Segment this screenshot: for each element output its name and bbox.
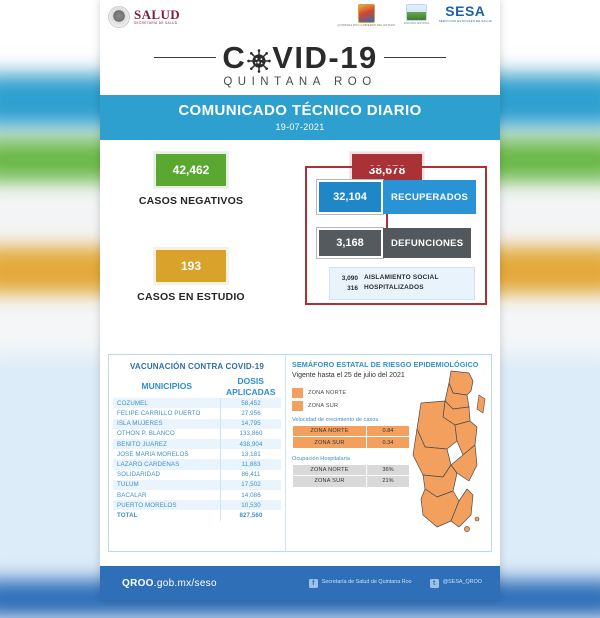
occupancy-value-sur: 21%	[367, 476, 410, 487]
recovered-row: 32,104 RECUPERADOS	[317, 180, 485, 214]
positive-breakdown-box: 32,104 RECUPERADOS 3,168 DEFUNCIONES 3,0…	[305, 166, 487, 305]
growth-zone-sur: ZONA SUR	[293, 437, 367, 448]
municipio-cell: BENITO JUAREZ	[113, 439, 221, 449]
footer-social: f Secretaría de Salud de Quintana Roo t …	[309, 579, 482, 588]
table-row: LAZARO CARDENAS11,883	[113, 459, 281, 469]
growth-table-block: Velocidad de crecimiento de casos ZONA N…	[292, 417, 410, 449]
poster-footer: QROO.gob.mx/seso f Secretaría de Salud d…	[100, 566, 500, 600]
sesa-logo-subtitle: SERVICIOS ESTATALES DE SALUD	[439, 19, 492, 23]
dosis-cell: 86,411	[221, 470, 282, 480]
municipio-cell: BACALAR	[113, 490, 221, 500]
dosis-cell: 11,883	[221, 459, 282, 469]
municipio-cell: FELIPE CARRILLO PUERTO	[113, 408, 221, 418]
isolation-row: 3,090 AISLAMIENTO SOCIAL	[338, 274, 466, 283]
footer-website-bold: QROO	[122, 578, 154, 589]
negative-cases-label: CASOS NEGATIVOS	[126, 195, 256, 207]
growth-row-norte: ZONA NORTE 0.84	[293, 426, 410, 437]
sesa-logo-title: SESA	[445, 4, 485, 18]
edu-logo: ESCUDO ESTATAL	[404, 4, 430, 25]
hospitalized-value: 316	[338, 284, 358, 292]
banner-date: 19-07-2021	[100, 122, 500, 132]
deaths-value: 3,168	[317, 228, 383, 258]
footer-website[interactable]: QROO.gob.mx/seso	[122, 578, 217, 589]
occupancy-row-sur: ZONA SUR 21%	[293, 476, 410, 487]
twitter-label: @SESA_QROO	[443, 579, 482, 586]
table-row: OTHON P. BLANCO133,860	[113, 429, 281, 439]
municipio-cell: COZUMEL	[113, 398, 221, 408]
table-row: ISLA MUJERES14,795	[113, 419, 281, 429]
table-row: JOSE MARIA MORELOS13,181	[113, 449, 281, 459]
quintana-roo-map	[407, 369, 489, 537]
isolation-label: AISLAMIENTO SOCIAL	[364, 274, 439, 283]
dosis-cell: 13,181	[221, 449, 282, 459]
dosis-cell: 10,530	[221, 500, 282, 510]
partner-logos: QUINTANA ROO GOBIERNO DEL ESTADO ESCUDO …	[337, 4, 492, 27]
occupancy-zone-sur: ZONA SUR	[293, 476, 367, 487]
occupancy-value-norte: 36%	[367, 464, 410, 475]
table-row: COZUMEL58,452	[113, 398, 281, 408]
covid-subtitle: QUINTANA ROO	[100, 76, 500, 88]
footer-website-rest: .gob.mx/seso	[154, 578, 217, 589]
deaths-row: 3,168 DEFUNCIONES	[317, 228, 485, 258]
legend-swatch-sur	[292, 401, 303, 411]
vaccination-col-dosis: DOSIS APLICADAS	[221, 375, 282, 398]
hospitalized-label: HOSPITALIZADOS	[364, 284, 424, 293]
municipio-cell: TULUM	[113, 480, 221, 490]
tree-book-icon	[406, 4, 427, 21]
vaccination-panel: VACUNACIÓN CONTRA COVID-19 MUNICIPIOS DO…	[109, 355, 286, 551]
deaths-label: DEFUNCIONES	[383, 228, 471, 258]
municipio-cell: JOSE MARIA MORELOS	[113, 449, 221, 459]
vaccination-table: MUNICIPIOS DOSIS APLICADAS COZUMEL58,452…	[113, 375, 281, 521]
covid-title-prefix: C	[222, 42, 246, 73]
dosis-cell: 14,795	[221, 419, 282, 429]
virus-icon	[247, 47, 271, 71]
dosis-cell: 58,452	[221, 398, 282, 408]
municipio-cell: LAZARO CARDENAS	[113, 459, 221, 469]
cases-under-study-stat: 193 CASOS EN ESTUDIO	[126, 248, 256, 303]
recovered-label: RECUPERADOS	[383, 180, 476, 214]
growth-zone-norte: ZONA NORTE	[293, 426, 367, 437]
statistics-section: 42,462 CASOS NEGATIVOS 38,678 CASOS POSI…	[100, 140, 500, 350]
occupancy-caption: Ocupación Hospitalaria	[292, 456, 410, 462]
qroo-state-logo: QUINTANA ROO GOBIERNO DEL ESTADO	[337, 4, 395, 27]
bottom-panel: VACUNACIÓN CONTRA COVID-19 MUNICIPIOS DO…	[108, 354, 492, 552]
table-row: TULUM17,502	[113, 480, 281, 490]
title-rule-right	[384, 57, 446, 59]
municipio-cell: SOLIDARIDAD	[113, 470, 221, 480]
vaccination-title: VACUNACIÓN CONTRA COVID-19	[113, 360, 281, 375]
salud-logo-subtitle: SECRETARÍA DE SALUD	[134, 22, 180, 25]
facebook-label: Secretaría de Salud de Quintana Roo	[322, 579, 412, 586]
covid-title-block: C	[100, 40, 500, 88]
sesa-logo: SESA SERVICIOS ESTATALES DE SALUD	[439, 4, 492, 23]
facebook-link[interactable]: f Secretaría de Salud de Quintana Roo	[309, 579, 412, 588]
occupancy-zone-norte: ZONA NORTE	[293, 464, 367, 475]
occupancy-table-block: Ocupación Hospitalaria ZONA NORTE 36% ZO…	[292, 456, 410, 488]
salud-logo: SALUD SECRETARÍA DE SALUD	[108, 6, 180, 28]
twitter-icon: t	[430, 579, 439, 588]
covid-title: C	[222, 42, 377, 73]
hospitalized-row: 316 HOSPITALIZADOS	[338, 284, 466, 293]
table-row: BENITO JUAREZ438,904	[113, 439, 281, 449]
cases-under-study-label: CASOS EN ESTUDIO	[126, 291, 256, 303]
legend-label-sur: ZONA SUR	[308, 403, 338, 409]
covid-title-suffix: VID-19	[272, 42, 377, 73]
status-breakdown-box: 3,090 AISLAMIENTO SOCIAL 316 HOSPITALIZA…	[329, 267, 475, 300]
municipio-cell: ISLA MUJERES	[113, 419, 221, 429]
legend-label-norte: ZONA NORTE	[308, 390, 346, 396]
growth-caption: Velocidad de crecimiento de casos	[292, 417, 410, 423]
twitter-link[interactable]: t @SESA_QROO	[430, 579, 482, 588]
title-rule-left	[154, 57, 216, 59]
municipio-cell: TOTAL	[113, 510, 221, 520]
salud-logo-title: SALUD	[134, 8, 180, 21]
semaforo-title: SEMÁFORO ESTATAL DE RIESGO EPIDEMIOLÓGIC…	[292, 360, 486, 369]
dosis-cell: 27,956	[221, 408, 282, 418]
municipio-cell: OTHON P. BLANCO	[113, 429, 221, 439]
vaccination-col-municipio: MUNICIPIOS	[113, 375, 221, 398]
municipio-cell: PUERTO MORELOS	[113, 500, 221, 510]
poster-header: SALUD SECRETARÍA DE SALUD QUINTANA ROO G…	[100, 0, 500, 40]
occupancy-row-norte: ZONA NORTE 36%	[293, 464, 410, 475]
growth-table: ZONA NORTE 0.84 ZONA SUR 0.34	[292, 425, 410, 449]
growth-value-norte: 0.84	[367, 426, 410, 437]
occupancy-table: ZONA NORTE 36% ZONA SUR 21%	[292, 464, 410, 488]
growth-value-sur: 0.34	[367, 437, 410, 448]
dosis-cell: 14,086	[221, 490, 282, 500]
semaforo-panel: SEMÁFORO ESTATAL DE RIESGO EPIDEMIOLÓGIC…	[286, 355, 491, 551]
negative-cases-value: 42,462	[154, 152, 228, 188]
dosis-cell: 827,560	[221, 510, 282, 520]
table-row: BACALAR14,086	[113, 490, 281, 500]
qroo-logo-caption: QUINTANA ROO GOBIERNO DEL ESTADO	[337, 24, 395, 27]
dosis-cell: 17,502	[221, 480, 282, 490]
table-row: SOLIDARIDAD86,411	[113, 470, 281, 480]
negative-cases-stat: 42,462 CASOS NEGATIVOS	[126, 152, 256, 207]
banner-title: COMUNICADO TÉCNICO DIARIO	[100, 102, 500, 119]
table-row: TOTAL827,560	[113, 510, 281, 520]
facebook-icon: f	[309, 579, 318, 588]
quintana-roo-seal-icon	[358, 4, 375, 23]
dosis-cell: 133,860	[221, 429, 282, 439]
daily-report-banner: COMUNICADO TÉCNICO DIARIO 19-07-2021	[100, 95, 500, 140]
mexico-eagle-icon	[108, 6, 130, 28]
growth-row-sur: ZONA SUR 0.34	[293, 437, 410, 448]
legend-swatch-norte	[292, 388, 303, 398]
edu-logo-caption: ESCUDO ESTATAL	[404, 22, 430, 25]
recovered-value: 32,104	[317, 180, 383, 214]
table-row: FELIPE CARRILLO PUERTO27,956	[113, 408, 281, 418]
dosis-cell: 438,904	[221, 439, 282, 449]
cases-under-study-value: 193	[154, 248, 228, 284]
table-row: PUERTO MORELOS10,530	[113, 500, 281, 510]
poster: SALUD SECRETARÍA DE SALUD QUINTANA ROO G…	[100, 0, 500, 600]
isolation-value: 3,090	[338, 274, 358, 282]
